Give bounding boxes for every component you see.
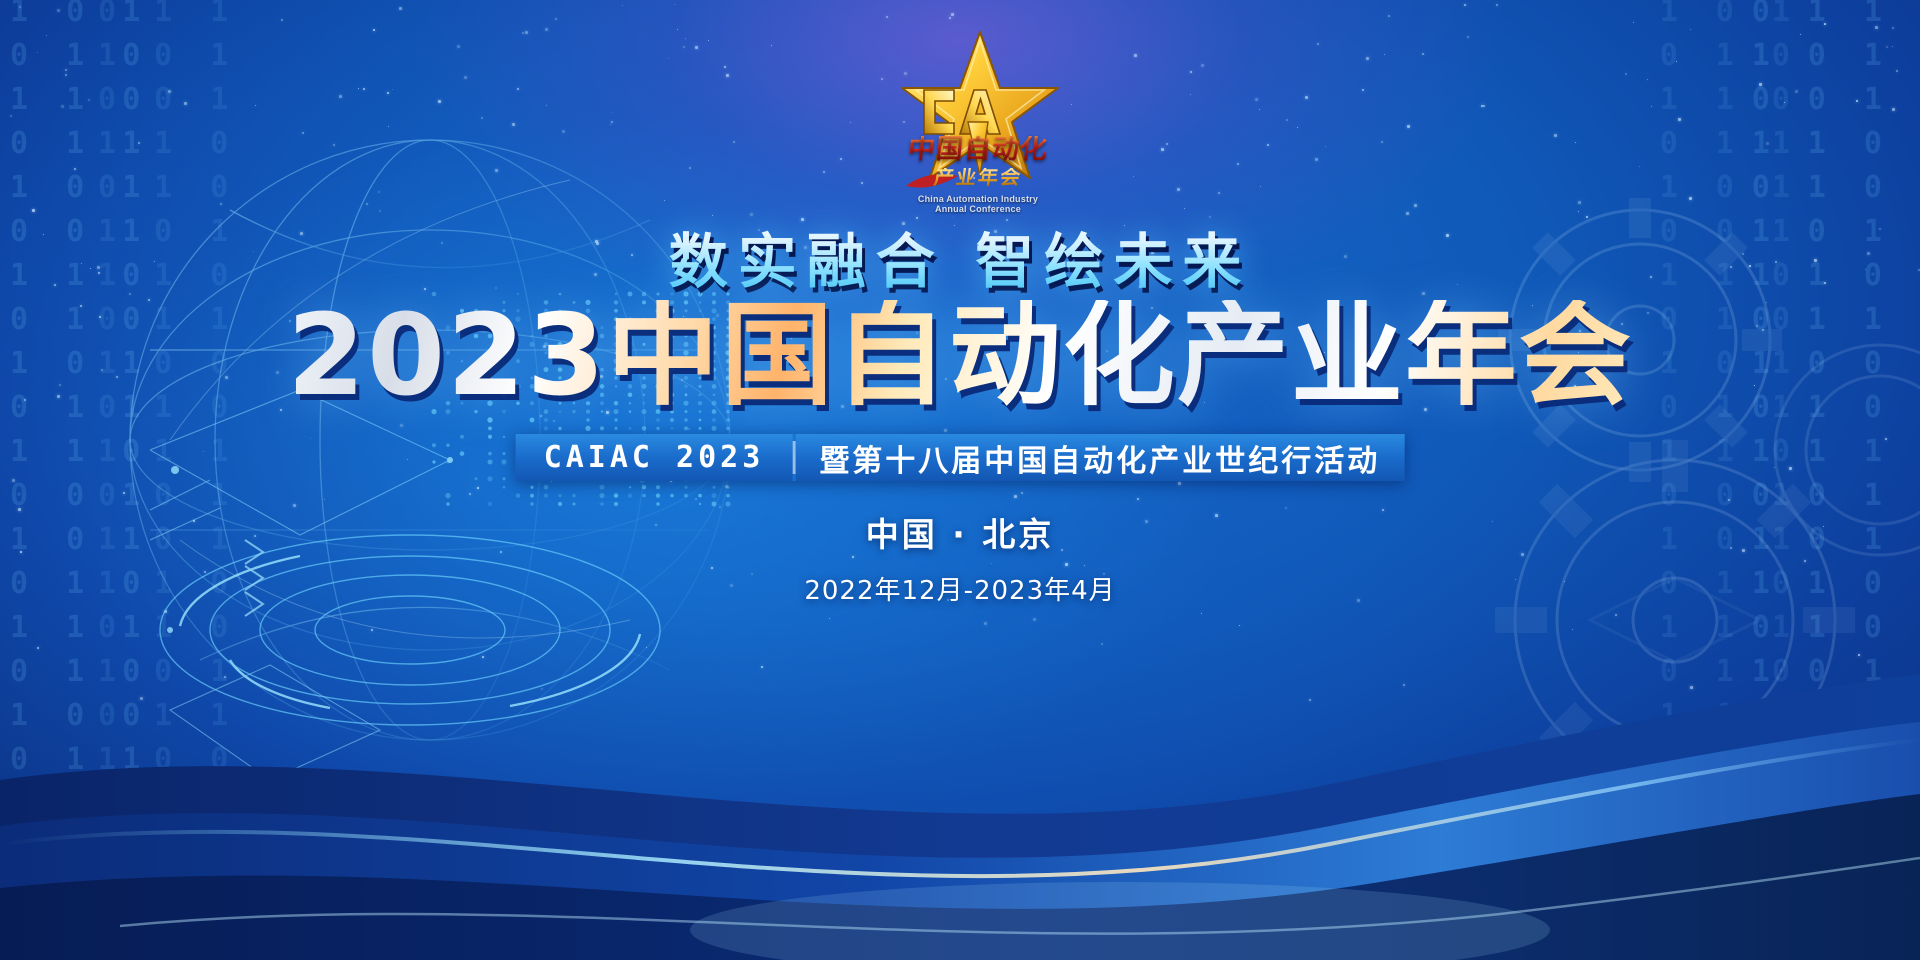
bottom-light-waves (0, 630, 1920, 960)
poster-date-range: 2022年12月-2023年4月 (0, 570, 1920, 607)
poster-main-title: 2023中国自动化产业年会 (0, 300, 1920, 412)
poster-subtitle-bar: CAIAC 2023 暨第十八届中国自动化产业世纪行活动 (516, 434, 1405, 481)
logo-english-name: China Automation IndustryAnnual Conferen… (888, 194, 1068, 214)
subtitle-code: CAIAC 2023 (516, 434, 793, 481)
subtitle-secondary: 暨第十八届中国自动化产业世纪行活动 (795, 434, 1404, 481)
logo-chinese-name: 中国自动化 (887, 136, 1069, 163)
caiac-logo: 中国自动化 产业年会 China Automation IndustryAnnu… (888, 26, 1068, 216)
logo-chinese-subname: 产业年会 (887, 168, 1070, 188)
poster-canvas: 1 0 1 0 1 0 1 1 0 0 1 1 1 0 1 0 0 1 1 1 … (0, 0, 1920, 960)
poster-location: 中国 · 北京 (0, 508, 1920, 556)
poster-tagline: 数实融合 智绘未来 (0, 214, 1920, 299)
